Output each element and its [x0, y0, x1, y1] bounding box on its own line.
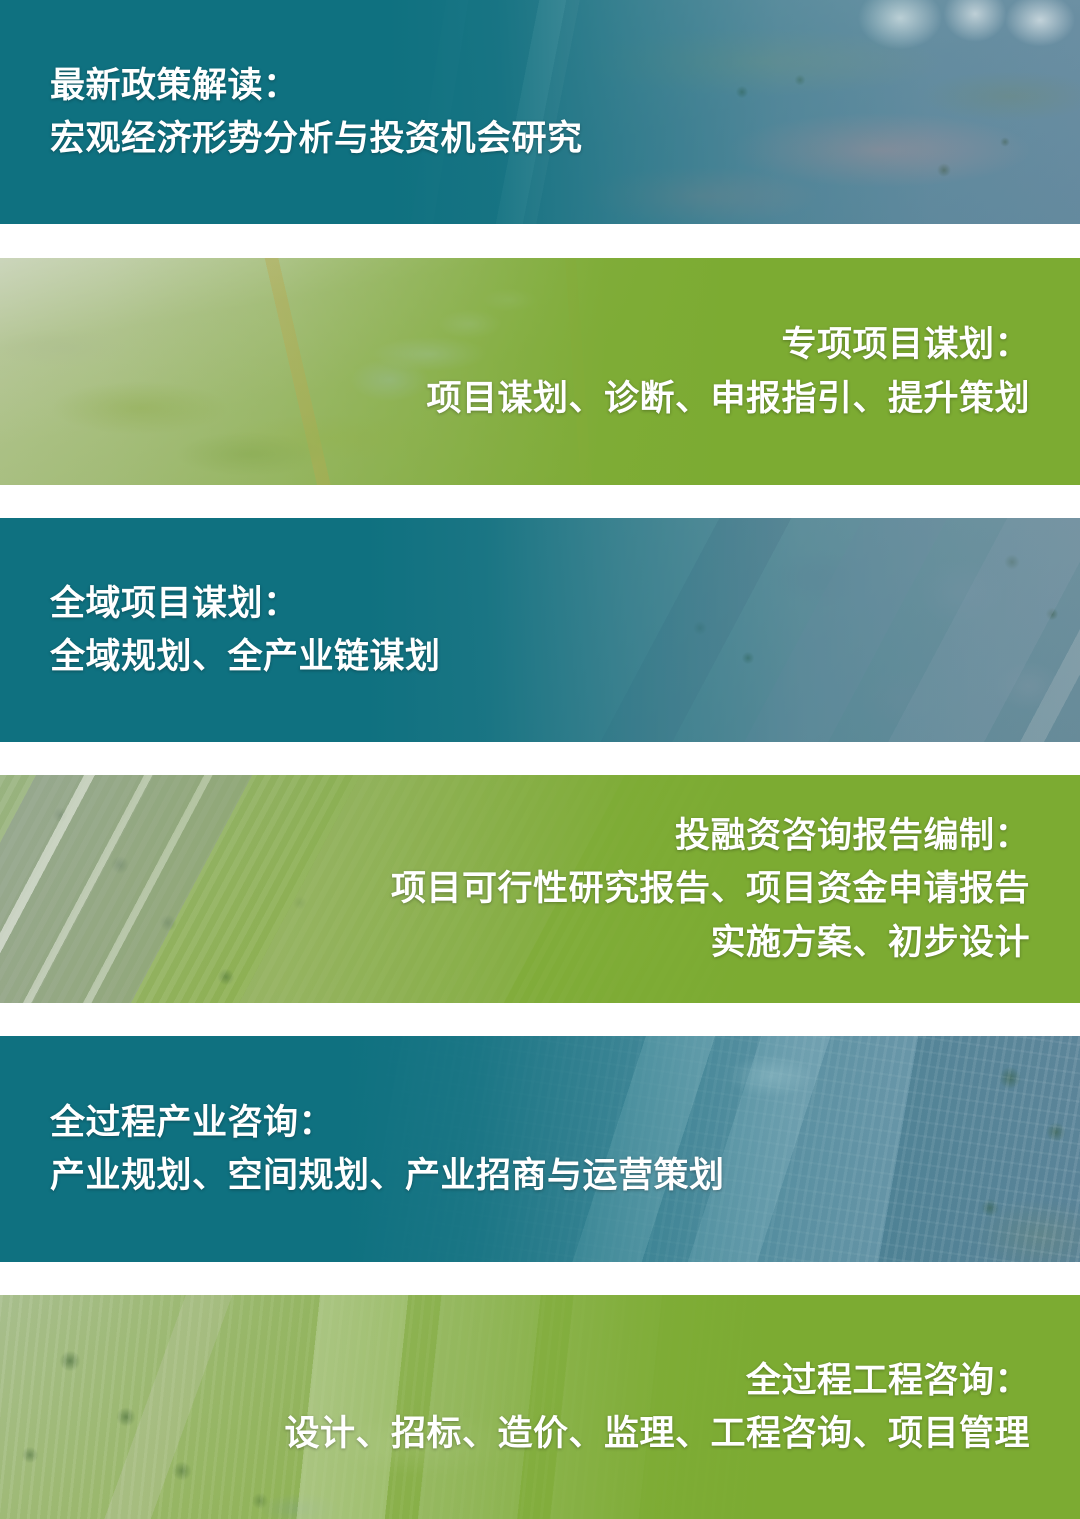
band-text-block: 全过程工程咨询： 设计、招标、造价、监理、工程咨询、项目管理	[284, 1354, 1030, 1460]
service-band-full-process-industry-consulting[interactable]: 全过程产业咨询： 产业规划、空间规划、产业招商与运营策划	[0, 1036, 1080, 1262]
band-text-block: 最新政策解读： 宏观经济形势分析与投资机会研究	[50, 59, 583, 165]
band-subtitle: 产业规划、空间规划、产业招商与运营策划	[50, 1149, 725, 1202]
band-subtitle: 项目可行性研究报告、项目资金申请报告	[391, 862, 1030, 915]
band-title: 专项项目谋划：	[426, 318, 1030, 371]
band-title: 全过程工程咨询：	[284, 1354, 1030, 1407]
band-text-block: 投融资咨询报告编制： 项目可行性研究报告、项目资金申请报告 实施方案、初步设计	[391, 809, 1030, 969]
band-title: 最新政策解读：	[50, 59, 583, 112]
band-text-block: 专项项目谋划： 项目谋划、诊断、申报指引、提升策划	[426, 318, 1030, 424]
band-subtitle: 项目谋划、诊断、申报指引、提升策划	[426, 372, 1030, 425]
band-title: 全过程产业咨询：	[50, 1096, 725, 1149]
band-text-block: 全过程产业咨询： 产业规划、空间规划、产业招商与运营策划	[50, 1096, 725, 1202]
band-subtitle: 设计、招标、造价、监理、工程咨询、项目管理	[284, 1407, 1030, 1460]
service-band-regional-project-planning[interactable]: 全域项目谋划： 全域规划、全产业链谋划	[0, 518, 1080, 742]
service-band-investment-financing-report[interactable]: 投融资咨询报告编制： 项目可行性研究报告、项目资金申请报告 实施方案、初步设计	[0, 775, 1080, 1003]
service-band-full-process-engineering-consulting[interactable]: 全过程工程咨询： 设计、招标、造价、监理、工程咨询、项目管理	[0, 1295, 1080, 1519]
band-subtitle: 全域规划、全产业链谋划	[50, 630, 441, 683]
band-subtitle-second: 实施方案、初步设计	[391, 916, 1030, 969]
band-subtitle: 宏观经济形势分析与投资机会研究	[50, 112, 583, 165]
service-banner-poster: 最新政策解读： 宏观经济形势分析与投资机会研究 专项项目谋划： 项目谋划、诊断、…	[0, 0, 1080, 1519]
band-text-block: 全域项目谋划： 全域规划、全产业链谋划	[50, 577, 441, 683]
service-band-special-project-planning[interactable]: 专项项目谋划： 项目谋划、诊断、申报指引、提升策划	[0, 258, 1080, 485]
service-band-policy-interpretation[interactable]: 最新政策解读： 宏观经济形势分析与投资机会研究	[0, 0, 1080, 224]
band-title: 全域项目谋划：	[50, 577, 441, 630]
band-title: 投融资咨询报告编制：	[391, 809, 1030, 862]
